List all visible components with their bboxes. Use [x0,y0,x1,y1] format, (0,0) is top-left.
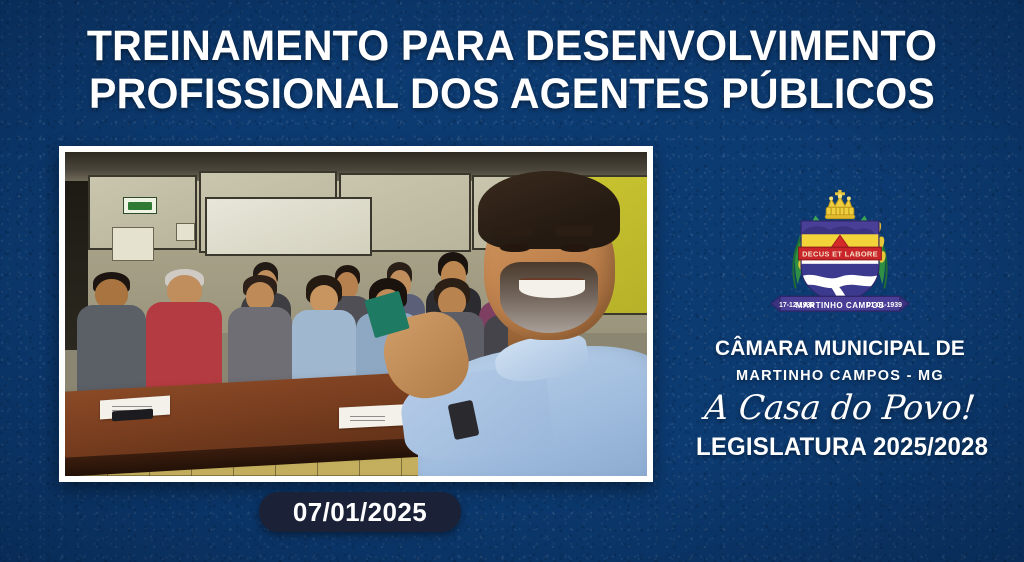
organization-name: CÂMARA MUNICIPAL DE [695,336,986,361]
group-photo [65,152,647,476]
wall-picture [176,223,195,241]
selfie-hair [478,171,620,249]
person [146,269,222,399]
whiteboard [205,197,372,256]
selfie-smile [519,278,585,298]
page-title: TREINAMENTO PARA DESENVOLVIMENTO PROFISS… [0,22,1024,118]
title-line-2: PROFISSIONAL DOS AGENTES PÚBLICOS [23,70,1001,118]
coat-of-arms-icon: DECUS ET LABORE 17-12-1938 MARTINHO CAMP… [766,186,914,318]
wall-picture [112,227,155,261]
exit-sign-icon [123,197,157,214]
date-badge: 07/01/2025 [259,492,461,532]
crest-ribbon-right-date: 01-01-1939 [867,302,902,309]
paper-text-lines [350,413,385,421]
person [228,275,292,395]
date-badge-label: 07/01/2025 [293,497,427,528]
organization-slogan: A Casa do Povo! [688,388,992,428]
selfie-eyebrow [555,226,593,236]
selfie-eyebrow [495,226,533,236]
person [77,272,147,395]
photo-frame [59,146,653,482]
legislature-label: LEGISLATURA 2025/2028 [696,433,984,462]
crest-motto: DECUS ET LABORE [802,249,878,258]
selfie-person [385,152,647,476]
poster-canvas: TREINAMENTO PARA DESENVOLVIMENTO PROFISS… [0,0,1024,562]
organization-city: MARTINHO CAMPOS - MG [690,368,990,384]
branding-panel: DECUS ET LABORE 17-12-1938 MARTINHO CAMP… [690,186,990,462]
title-line-1: TREINAMENTO PARA DESENVOLVIMENTO [23,22,1001,70]
